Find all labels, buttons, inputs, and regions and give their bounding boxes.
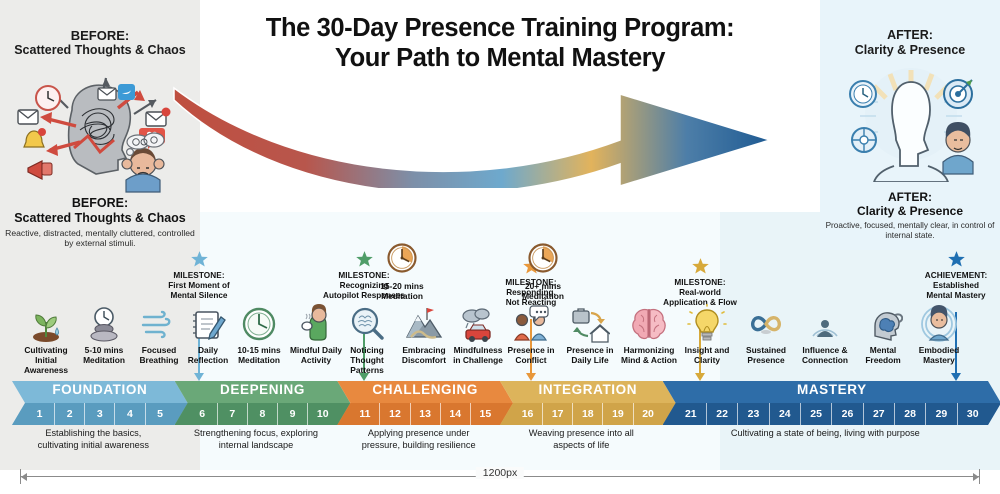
storm-car-icon [450,302,506,344]
milestone-star-icon [129,250,269,271]
day-cell[interactable]: 3 [84,403,114,425]
mindful-tea-icon [288,302,344,344]
activity-label: Sustained Presence [738,346,794,366]
after-heading-line2: Clarity & Presence [826,43,994,58]
phase-desc-line2: pressure, building resilience [337,440,500,452]
activity-label: Influence & Connection [797,346,853,366]
activity-label: Insight and Clarity [679,346,735,366]
activity-item[interactable]: Harmonizing Mind & Action [621,302,677,366]
day-cell[interactable]: 25 [800,403,831,425]
phase-description: Applying presence underpressure, buildin… [337,428,500,451]
day-cell[interactable]: 8 [247,403,277,425]
day-cell[interactable]: 24 [769,403,800,425]
day-cell[interactable]: 12 [379,403,409,425]
activity-item[interactable]: 5-10 mins Meditation [76,302,132,366]
activity-label: Mindful Daily Activity [288,346,344,366]
phase-desc-line2: internal landscape [175,440,338,452]
head-brain-icon [855,302,911,344]
activity-label: Focused Breathing [131,346,187,366]
day-cell[interactable]: 26 [831,403,862,425]
page-title: The 30-Day Presence Training Program: Yo… [200,14,800,73]
activity-item[interactable]: Presence in Daily Life [562,302,618,366]
milestone-marker: MILESTONE:First Moment ofMental Silence [129,250,269,301]
clock-icon [364,240,440,281]
day-cell[interactable]: 15 [470,403,500,425]
day-cell[interactable]: 23 [737,403,768,425]
milestone-line1: Real-world [630,288,770,298]
day-cell-row: 21222324252627282930 [663,403,1000,425]
activity-label: Presence in Daily Life [562,346,618,366]
clock-icon [505,240,581,281]
day-cell[interactable]: 13 [410,403,440,425]
phase-segment[interactable]: INTEGRATION 1617181920 [500,381,676,425]
meditation-duration-callout: 20+ minsMeditation [505,240,581,301]
ruler-label: 1200px [476,467,524,479]
activity-label: Embracing Discomfort [396,346,452,366]
brain-halves-icon [621,302,677,344]
day-cell[interactable]: 4 [114,403,144,425]
day-cell[interactable]: 17 [542,403,572,425]
lightbulb-icon [679,302,735,344]
phase-desc-line1: Applying presence under [337,428,500,440]
callout-line2: Meditation [364,291,440,301]
day-cell[interactable]: 19 [602,403,632,425]
callout-line1: 15-20 mins [364,281,440,291]
activity-item[interactable]: Daily Reflection [180,302,236,366]
activity-item[interactable]: Embodied Mastery [911,302,967,366]
activity-label: Mindfulness in Challenge [450,346,506,366]
day-cell[interactable]: 16 [513,403,542,425]
phase-name: CHALLENGING [337,382,513,397]
milestone-star-icon [886,250,1000,271]
activity-item[interactable]: Focused Breathing [131,302,187,366]
milestone-star-icon [630,257,770,278]
phase-timeline-bar: FOUNDATION 12345 DEEPENING 678910 CHALLE… [12,381,988,425]
after-caption: AFTER: Clarity & Presence Proactive, foc… [820,190,1000,241]
tangled-head-chaos-icon [10,64,190,194]
phase-band: CHALLENGING 1112131415 [337,381,513,425]
phase-desc-line1: Cultivating a state of being, living wit… [663,428,988,440]
gradient-curved-arrow-icon [170,78,790,193]
before-heading: BEFORE: Scattered Thoughts & Chaos [4,28,196,58]
title-line-2: Your Path to Mental Mastery [200,44,800,74]
milestone-line2: Mental Silence [129,291,269,301]
activity-label: Harmonizing Mind & Action [621,346,677,366]
day-cell-row: 678910 [175,403,351,425]
before-caption-desc: Reactive, distracted, mentally cluttered… [2,228,198,249]
mountain-flag-icon [396,302,452,344]
person-aura-icon [911,302,967,344]
briefcase-home-icon [562,302,618,344]
day-cell-row: 12345 [12,403,188,425]
title-line-1: The 30-Day Presence Training Program: [200,14,800,44]
milestone-marker: ACHIEVEMENT:EstablishedMental Mastery [886,250,1000,301]
activity-item[interactable]: Mindfulness in Challenge [450,302,506,366]
milestone-marker: MILESTONE:Real-worldApplication & Flow [630,257,770,308]
day-cell[interactable]: 6 [188,403,217,425]
phase-description: Strengthening focus, exploringinternal l… [175,428,338,451]
day-cell[interactable]: 7 [217,403,247,425]
activity-item[interactable]: Mindful Daily Activity [288,302,344,366]
activity-label: Presence in Conflict [503,346,559,366]
day-cell[interactable]: 9 [277,403,307,425]
infinity-icon [738,302,794,344]
phase-segment[interactable]: MASTERY 21222324252627282930 [663,381,1000,425]
milestone-kicker: MILESTONE: [630,278,770,288]
sprout-icon [18,302,74,344]
phase-band: MASTERY 21222324252627282930 [663,381,1000,425]
callout-line2: Meditation [505,291,581,301]
infographic-canvas: The 30-Day Presence Training Program: Yo… [0,0,1000,494]
phase-segment[interactable]: DEEPENING 678910 [175,381,351,425]
milestone-connector-arrow [951,373,961,381]
after-caption-line1: AFTER: [820,190,1000,204]
phase-desc-line1: Strengthening focus, exploring [175,428,338,440]
ruler-arrow-left [21,473,27,481]
phase-name: FOUNDATION [12,382,188,397]
meditator-waves-icon [797,302,853,344]
activity-label: 5-10 mins Meditation [76,346,132,366]
activity-item[interactable]: Presence in Conflict [503,302,559,366]
phase-band: DEEPENING 678910 [175,381,351,425]
milestone-kicker: MILESTONE: [129,271,269,281]
activity-item[interactable]: Insight and Clarity [679,302,735,366]
milestone-connector-arrow [194,373,204,381]
magnifier-brain-icon [339,302,395,344]
milestone-label: ACHIEVEMENT:EstablishedMental Mastery [886,271,1000,301]
width-ruler: 1200px [20,466,980,488]
ruler-arrow-right [973,473,979,481]
day-cell[interactable]: 11 [350,403,379,425]
activity-label: Noticing Thought Patterns [339,346,395,376]
day-cell[interactable]: 5 [145,403,175,425]
day-cell[interactable]: 27 [863,403,894,425]
activity-item[interactable]: Noticing Thought Patterns [339,302,395,376]
milestone-kicker: ACHIEVEMENT: [886,271,1000,281]
day-cell-row: 1112131415 [337,403,513,425]
milestone-label: MILESTONE:First Moment ofMental Silence [129,271,269,301]
milestone-connector-arrow [695,373,705,381]
milestone-line1: Established [886,281,1000,291]
radiant-head-clarity-icon [830,62,992,182]
callout-line1: 20+ mins [505,281,581,291]
phase-name: MASTERY [663,382,1000,397]
activity-item[interactable]: Influence & Connection [797,302,853,366]
activity-item[interactable]: Cultivating Initial Awareness [18,302,74,376]
after-heading: AFTER: Clarity & Presence [826,28,994,58]
day-cell[interactable]: 29 [925,403,956,425]
phase-description: Establishing the basics,cultivating init… [12,428,175,451]
phase-description: Weaving presence into allaspects of life [500,428,663,451]
day-cell[interactable]: 22 [706,403,737,425]
before-caption: BEFORE: Scattered Thoughts & Chaos React… [2,196,198,249]
day-cell[interactable]: 1 [25,403,54,425]
phase-name: INTEGRATION [500,382,676,397]
milestone-line2: Mental Mastery [886,291,1000,301]
day-cell[interactable]: 18 [572,403,602,425]
day-cell[interactable]: 2 [54,403,84,425]
activity-label: Embodied Mastery [911,346,967,366]
milestone-connector-arrow [526,373,536,381]
stones-clock-icon [76,302,132,344]
after-caption-desc: Proactive, focused, mentally clear, in c… [820,221,1000,241]
day-cell[interactable]: 10 [307,403,337,425]
day-cell-row: 1617181920 [500,403,676,425]
day-cell[interactable]: 28 [894,403,925,425]
phase-name: DEEPENING [175,382,351,397]
phase-segment[interactable]: CHALLENGING 1112131415 [337,381,513,425]
phase-segment[interactable]: FOUNDATION 12345 [12,381,188,425]
breath-wind-icon [131,302,187,344]
phase-desc-line1: Establishing the basics, [12,428,175,440]
ruler-cap-right [979,469,980,484]
after-caption-line2: Clarity & Presence [820,204,1000,218]
before-heading-line2: Scattered Thoughts & Chaos [4,43,196,58]
phase-desc-line2: cultivating initial awareness [12,440,175,452]
phase-description: Cultivating a state of being, living wit… [663,428,988,440]
activity-item[interactable]: Sustained Presence [738,302,794,366]
activity-label: Daily Reflection [180,346,236,366]
phase-desc-line1: Weaving presence into all [500,428,663,440]
activity-label: 10-15 mins Meditation [231,346,287,366]
phase-desc-line2: aspects of life [500,440,663,452]
day-cell[interactable]: 14 [440,403,470,425]
day-cell[interactable]: 30 [957,403,988,425]
meditation-duration-callout: 15-20 minsMeditation [364,240,440,301]
before-caption-line1: BEFORE: [2,196,198,211]
activity-item[interactable]: Mental Freedom [855,302,911,366]
activity-label: Cultivating Initial Awareness [18,346,74,376]
activity-item[interactable]: Embracing Discomfort [396,302,452,366]
before-caption-line2: Scattered Thoughts & Chaos [2,211,198,226]
activity-label: Mental Freedom [855,346,911,366]
after-heading-line1: AFTER: [826,28,994,43]
phase-band: INTEGRATION 1617181920 [500,381,676,425]
activity-item[interactable]: 10-15 mins Meditation [231,302,287,366]
milestone-line1: First Moment of [129,281,269,291]
green-clock-icon [231,302,287,344]
phase-band: FOUNDATION 12345 [12,381,188,425]
day-cell[interactable]: 21 [676,403,706,425]
day-cell[interactable]: 20 [633,403,663,425]
two-people-icon [503,302,559,344]
notebook-pen-icon [180,302,236,344]
before-heading-line1: BEFORE: [4,28,196,43]
